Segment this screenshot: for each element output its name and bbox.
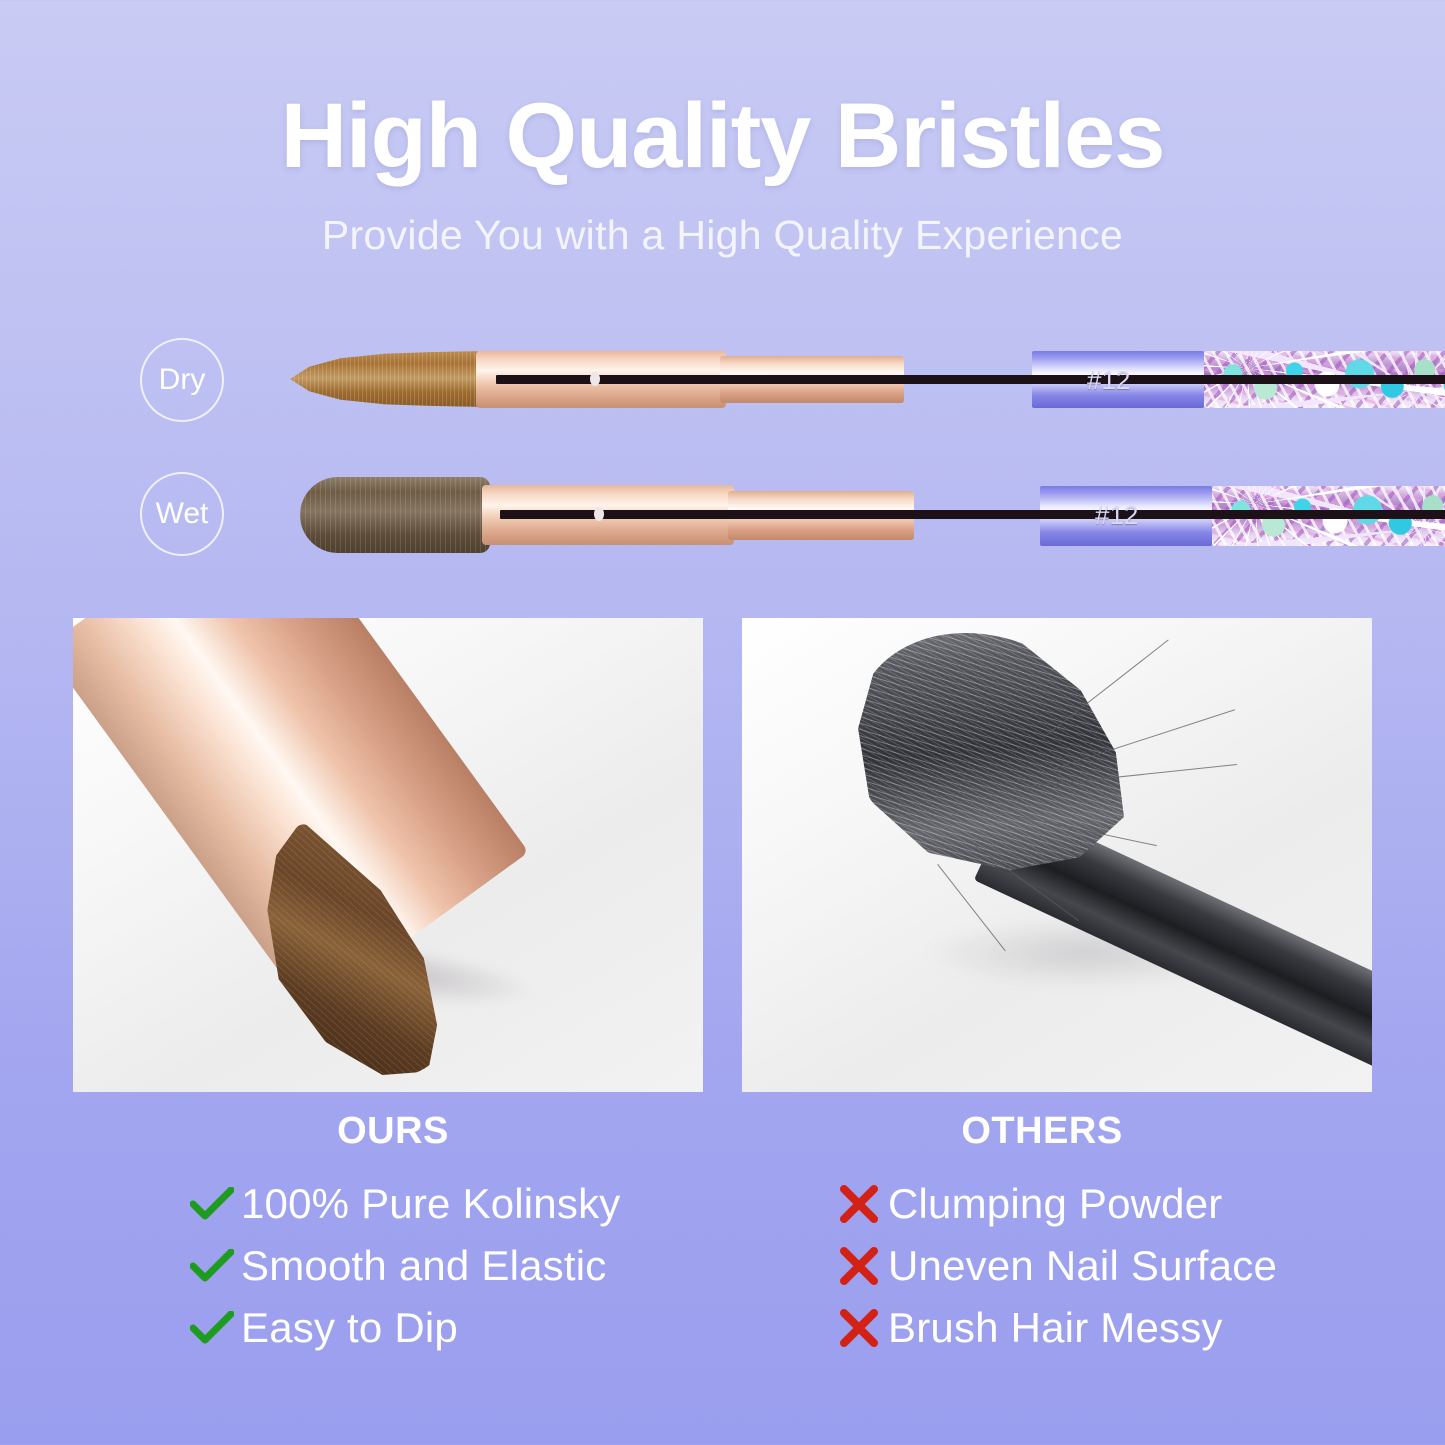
list-item: Brush Hair Messy [722, 1297, 1362, 1359]
brush-size-label-dry: #12 [1087, 365, 1130, 396]
state-badge-label: Dry [159, 363, 206, 397]
page-subtitle: Provide You with a High Quality Experien… [0, 182, 1445, 259]
feature-label: Uneven Nail Surface [888, 1242, 1277, 1290]
feature-list-ours: 100% Pure Kolinsky Smooth and Elastic Ea… [73, 1153, 713, 1359]
list-item: Uneven Nail Surface [722, 1235, 1362, 1297]
header: High Quality Bristles Provide You with a… [0, 0, 1445, 259]
check-icon [183, 1311, 241, 1345]
feature-list-others: Clumping Powder Uneven Nail Surface Brus… [722, 1153, 1362, 1359]
column-heading-ours: OURS [73, 1110, 713, 1153]
handle-seam-line [496, 375, 1445, 384]
cross-icon [830, 1246, 888, 1286]
cross-icon [830, 1184, 888, 1224]
list-item: Easy to Dip [73, 1297, 713, 1359]
list-item: 100% Pure Kolinsky [73, 1173, 713, 1235]
comparison-section: OURS 100% Pure Kolinsky Smooth and Elast… [0, 1110, 1445, 1390]
feature-label: Easy to Dip [241, 1304, 458, 1352]
brush-size-label-wet: #12 [1095, 500, 1138, 531]
wet-bristle-tip-icon [300, 477, 490, 553]
page-title: High Quality Bristles [0, 0, 1445, 182]
list-item: Smooth and Elastic [73, 1235, 713, 1297]
brush-graphic-wet: #12 [300, 455, 1350, 575]
dry-bristle-tip-icon [290, 351, 485, 407]
feature-label: Clumping Powder [888, 1180, 1223, 1228]
check-icon [183, 1187, 241, 1221]
column-heading-others: OTHERS [722, 1110, 1362, 1153]
cross-icon [830, 1308, 888, 1348]
state-badge-label: Wet [156, 497, 209, 531]
brush-row-wet: Wet #12 [0, 455, 1445, 575]
feature-label: Smooth and Elastic [241, 1242, 606, 1290]
list-item: Clumping Powder [722, 1173, 1362, 1235]
handle-seam-line [500, 510, 1445, 519]
state-badge-wet: Wet [140, 472, 224, 556]
seam-notch-icon [590, 372, 600, 386]
comparison-column-ours: OURS 100% Pure Kolinsky Smooth and Elast… [73, 1110, 713, 1359]
brush-graphic-dry: #12 [290, 320, 1350, 440]
brush-row-dry: Dry #12 [0, 320, 1445, 440]
ours-brush-photo [73, 618, 703, 1092]
others-brush-photo [742, 618, 1372, 1092]
check-icon [183, 1249, 241, 1283]
photo-comparison-panels [73, 618, 1373, 1092]
comparison-column-others: OTHERS Clumping Powder Uneven Nail Surfa… [722, 1110, 1362, 1359]
feature-label: Brush Hair Messy [888, 1304, 1223, 1352]
state-badge-dry: Dry [140, 338, 224, 422]
seam-notch-icon [594, 507, 604, 521]
feature-label: 100% Pure Kolinsky [241, 1180, 620, 1228]
